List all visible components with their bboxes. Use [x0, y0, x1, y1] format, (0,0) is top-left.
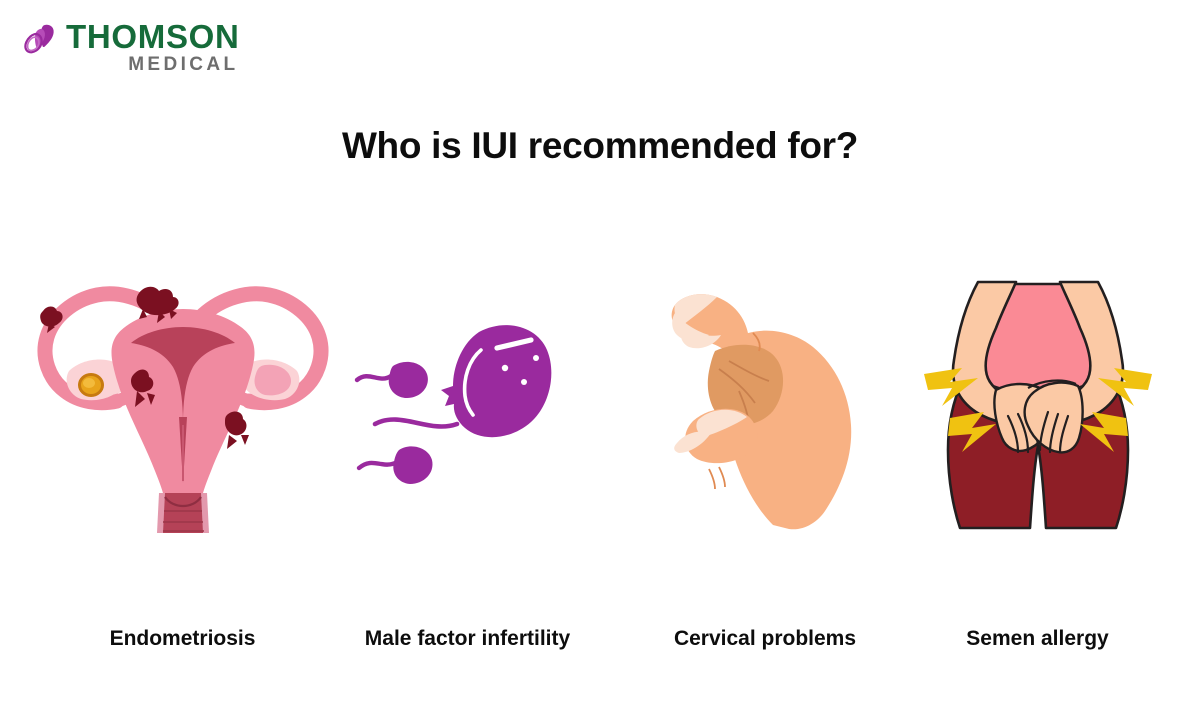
card-endometriosis: Endometriosis: [0, 255, 365, 675]
sperm-cells-icon: [350, 255, 585, 555]
card-cervical-problems: Cervical problems: [620, 255, 910, 675]
pelvic-pain-icon: [900, 255, 1175, 555]
pinching-hand-icon: [620, 255, 910, 555]
brand-wordmark: THOMSON MEDICAL: [66, 20, 240, 76]
card-label-male-factor-infertility: Male factor infertility: [365, 627, 570, 651]
conditions-row: Endometriosis Male: [0, 255, 1200, 675]
card-semen-allergy: Semen allergy: [900, 255, 1175, 675]
brand-name-secondary: MEDICAL: [128, 54, 238, 76]
butterfly-icon: [22, 22, 62, 66]
card-label-endometriosis: Endometriosis: [110, 627, 256, 651]
brand-logo[interactable]: THOMSON MEDICAL: [22, 20, 240, 76]
card-label-semen-allergy: Semen allergy: [966, 627, 1108, 651]
brand-name-primary: THOMSON: [66, 20, 240, 54]
card-label-cervical-problems: Cervical problems: [674, 627, 856, 651]
page-title: Who is IUI recommended for?: [0, 125, 1200, 167]
card-male-factor-infertility: Male factor infertility: [350, 255, 585, 675]
uterus-endometriosis-icon: [0, 255, 365, 555]
